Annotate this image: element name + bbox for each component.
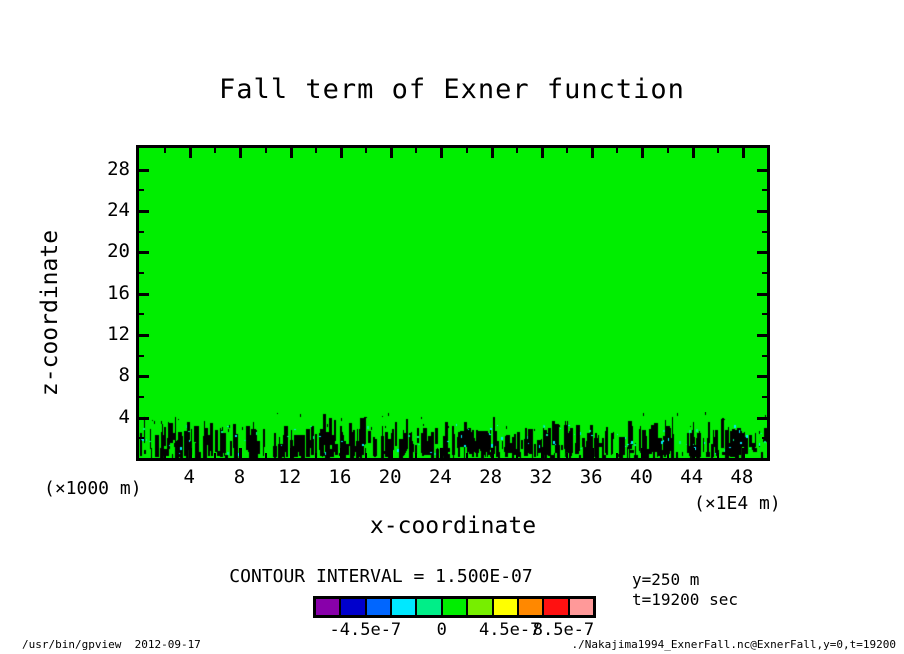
x-tick-label: 48 xyxy=(730,466,753,488)
x-tick-top xyxy=(742,147,745,158)
x-tick xyxy=(189,448,192,459)
x-tick-label: 28 xyxy=(479,466,502,488)
y-tick xyxy=(138,272,144,274)
plot-area xyxy=(136,145,770,461)
y-tick-right xyxy=(757,375,768,378)
y-tick-right xyxy=(757,293,768,296)
x-tick-label: 8 xyxy=(234,466,245,488)
x-tick xyxy=(265,453,267,459)
x-tick-top xyxy=(466,147,468,153)
x-tick xyxy=(214,453,216,459)
contour-interval-text: CONTOUR INTERVAL = 1.500E-07 xyxy=(229,566,532,587)
colorbar-swatch-8 xyxy=(519,599,544,615)
x-tick-label: 40 xyxy=(630,466,653,488)
colorbar-swatch-1 xyxy=(341,599,366,615)
footer-right: ./Nakajima1994_ExnerFall.nc@ExnerFall,y=… xyxy=(571,638,896,651)
colorbar-swatch-4 xyxy=(417,599,442,615)
colorbar-swatch-6 xyxy=(468,599,493,615)
colorbar-tick-label: 8.5e-7 xyxy=(533,620,594,640)
x-tick-top xyxy=(566,147,568,153)
x-tick-top xyxy=(315,147,317,153)
y-tick-label: 28 xyxy=(107,158,130,180)
colorbar-swatch-5 xyxy=(443,599,468,615)
x-tick-label: 36 xyxy=(580,466,603,488)
colorbar-swatch-3 xyxy=(392,599,417,615)
y-tick-right xyxy=(762,231,768,233)
x-tick xyxy=(616,453,618,459)
colorbar-tick-label: -4.5e-7 xyxy=(330,620,402,640)
y-tick xyxy=(138,293,149,296)
y-tick xyxy=(138,375,149,378)
x-tick-label: 16 xyxy=(329,466,352,488)
x-tick xyxy=(466,453,468,459)
y-tick xyxy=(138,437,144,439)
x-tick xyxy=(566,453,568,459)
x-tick xyxy=(365,453,367,459)
x-axis-title: x-coordinate xyxy=(136,513,770,539)
x-tick xyxy=(340,448,343,459)
x-tick-top xyxy=(516,147,518,153)
x-tick-label: 4 xyxy=(184,466,195,488)
y-tick-label: 16 xyxy=(107,282,130,304)
y-tick-right xyxy=(762,313,768,315)
y-axis-tick-labels: 481216202428 xyxy=(74,145,130,461)
annotation-time: t=19200 sec xyxy=(632,590,738,609)
y-tick-right xyxy=(762,189,768,191)
x-tick-label: 44 xyxy=(680,466,703,488)
y-axis-title: z-coordinate xyxy=(37,203,63,423)
x-tick-top xyxy=(692,147,695,158)
colorbar-swatch-2 xyxy=(367,599,392,615)
x-tick xyxy=(164,453,166,459)
colorbar-swatch-9 xyxy=(544,599,569,615)
x-tick-top xyxy=(541,147,544,158)
y-tick-right xyxy=(762,272,768,274)
plot-annotations: y=250 m t=19200 sec xyxy=(632,570,738,610)
x-tick-label: 24 xyxy=(429,466,452,488)
y-tick-right xyxy=(762,437,768,439)
colorbar-swatch-0 xyxy=(316,599,341,615)
colorbar-swatch-7 xyxy=(494,599,519,615)
annotation-slice: y=250 m xyxy=(632,570,699,589)
y-tick xyxy=(138,231,144,233)
colorbar-swatch-10 xyxy=(570,599,593,615)
y-tick xyxy=(138,189,144,191)
x-tick-top xyxy=(265,147,267,153)
x-tick xyxy=(239,448,242,459)
contour-noise-band xyxy=(139,412,767,458)
x-axis-tick-labels: 4812162024283236404448 xyxy=(136,466,770,492)
y-tick xyxy=(138,169,149,172)
x-tick xyxy=(390,448,393,459)
x-tick-top xyxy=(591,147,594,158)
x-tick xyxy=(491,448,494,459)
x-tick-top xyxy=(641,147,644,158)
colorbar-tick-label: 4.5e-7 xyxy=(479,620,540,640)
y-tick-right xyxy=(757,210,768,213)
x-tick xyxy=(667,453,669,459)
x-tick-top xyxy=(390,147,393,158)
x-tick-label: 12 xyxy=(278,466,301,488)
x-tick-top xyxy=(491,147,494,158)
colorbar-tick-label: 0 xyxy=(437,620,447,640)
y-tick-right xyxy=(762,396,768,398)
x-tick-top xyxy=(667,147,669,153)
x-tick xyxy=(541,448,544,459)
y-tick xyxy=(138,334,149,337)
y-tick xyxy=(138,355,144,357)
x-tick-top xyxy=(290,147,293,158)
x-tick-top xyxy=(616,147,618,153)
y-tick xyxy=(138,313,144,315)
x-axis-unit-label: (×1E4 m) xyxy=(694,493,781,514)
y-tick-label: 24 xyxy=(107,199,130,221)
x-tick xyxy=(440,448,443,459)
y-tick-right xyxy=(757,169,768,172)
colorbar xyxy=(313,596,596,618)
x-tick xyxy=(641,448,644,459)
x-tick-top xyxy=(164,147,166,153)
contour-interval-label: CONTOUR INTERVAL = 1.500E-07 xyxy=(0,566,904,587)
y-tick-label: 8 xyxy=(119,364,130,386)
y-tick-right xyxy=(762,355,768,357)
x-tick-label: 32 xyxy=(529,466,552,488)
x-tick-top xyxy=(340,147,343,158)
y-tick-label: 4 xyxy=(119,406,130,428)
x-tick-top xyxy=(365,147,367,153)
x-tick-top xyxy=(189,147,192,158)
x-tick-top xyxy=(440,147,443,158)
x-tick-top xyxy=(214,147,216,153)
y-tick-label: 12 xyxy=(107,323,130,345)
x-tick-label: 20 xyxy=(379,466,402,488)
y-tick xyxy=(138,251,149,254)
y-tick xyxy=(138,210,149,213)
x-tick xyxy=(290,448,293,459)
y-tick-right xyxy=(757,417,768,420)
y-tick-right xyxy=(757,251,768,254)
x-tick-top xyxy=(415,147,417,153)
x-tick xyxy=(415,453,417,459)
y-tick-label: 20 xyxy=(107,240,130,262)
x-tick xyxy=(717,453,719,459)
x-tick xyxy=(591,448,594,459)
x-tick xyxy=(692,448,695,459)
page-title: Fall term of Exner function xyxy=(0,74,904,105)
x-tick xyxy=(315,453,317,459)
y-tick xyxy=(138,396,144,398)
footer-left: /usr/bin/gpview 2012-09-17 xyxy=(22,638,201,651)
y-tick xyxy=(138,417,149,420)
colorbar-tick-labels: -4.5e-704.5e-78.5e-7 xyxy=(313,620,596,640)
x-tick-top xyxy=(239,147,242,158)
x-tick xyxy=(516,453,518,459)
y-tick-right xyxy=(757,334,768,337)
y-axis-unit-label: (×1000 m) xyxy=(44,478,142,499)
x-tick-top xyxy=(717,147,719,153)
x-tick xyxy=(742,448,745,459)
